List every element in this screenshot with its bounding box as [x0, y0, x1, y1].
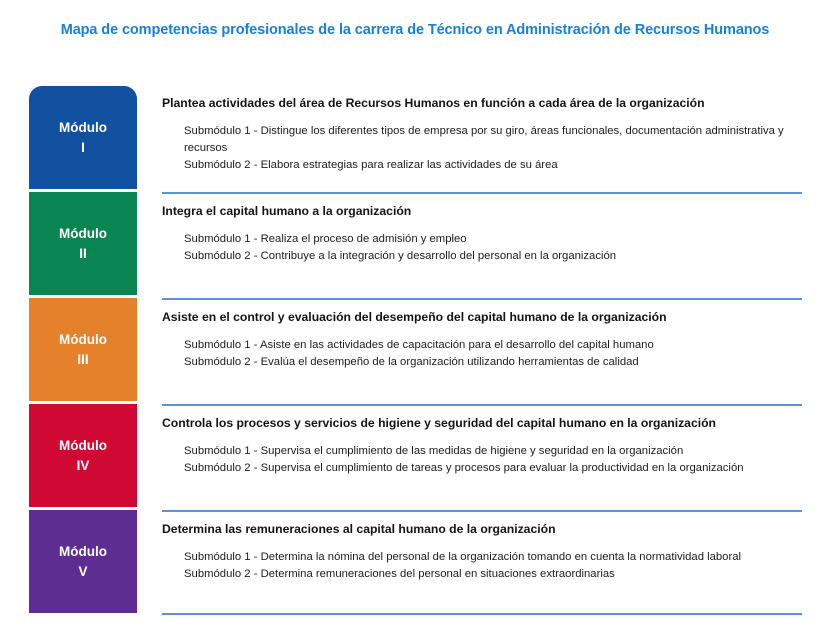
- module-chip-label: Módulo: [59, 436, 107, 456]
- module-chip-iv[interactable]: MóduloIV: [29, 404, 137, 507]
- submodule-list: Submódulo 1 - Asiste en las actividades …: [162, 337, 802, 371]
- module-content: Asiste en el control y evaluación del de…: [148, 298, 830, 401]
- module-row[interactable]: MóduloIIIAsiste en el control y evaluaci…: [0, 298, 830, 401]
- module-chip-cell: MóduloI: [0, 86, 148, 189]
- bottom-rule-row: [0, 613, 830, 615]
- competency-title: Asiste en el control y evaluación del de…: [162, 310, 802, 326]
- submodule-list: Submódulo 1 - Supervisa el cumplimiento …: [162, 443, 802, 477]
- competency-title: Integra el capital humano a la organizac…: [162, 204, 802, 220]
- submodule-item: Submódulo 2 - Elabora estrategias para r…: [184, 157, 802, 174]
- module-chip-label: Módulo: [59, 118, 107, 138]
- module-row[interactable]: MóduloIIIntegra el capital humano a la o…: [0, 192, 830, 295]
- module-chip-cell: MóduloV: [0, 510, 148, 613]
- submodule-item: Submódulo 1 - Supervisa el cumplimiento …: [184, 443, 802, 460]
- module-chip-i[interactable]: MóduloI: [29, 86, 137, 189]
- module-chip-v[interactable]: MóduloV: [29, 510, 137, 613]
- submodule-list: Submódulo 1 - Realiza el proceso de admi…: [162, 231, 802, 265]
- competency-title: Plantea actividades del área de Recursos…: [162, 96, 802, 112]
- competency-map: MóduloIPlantea actividades del área de R…: [0, 86, 830, 615]
- submodule-item: Submódulo 2 - Evalúa el desempeño de la …: [184, 354, 802, 371]
- module-chip-label: Módulo: [59, 330, 107, 350]
- module-chip-iii[interactable]: MóduloIII: [29, 298, 137, 401]
- submodule-item: Submódulo 1 - Realiza el proceso de admi…: [184, 231, 802, 248]
- module-chip-label: Módulo: [59, 542, 107, 562]
- module-chip-numeral: V: [78, 562, 87, 582]
- competency-title: Determina las remuneraciones al capital …: [162, 522, 802, 538]
- module-chip-cell: MóduloIV: [0, 404, 148, 507]
- module-content-inner: Asiste en el control y evaluación del de…: [148, 300, 802, 383]
- submodule-item: Submódulo 2 - Supervisa el cumplimiento …: [184, 460, 802, 477]
- page-title: Mapa de competencias profesionales de la…: [0, 22, 830, 38]
- submodule-list: Submódulo 1 - Distingue los diferentes t…: [162, 123, 802, 174]
- module-chip-numeral: III: [77, 350, 88, 370]
- module-content: Controla los procesos y servicios de hig…: [148, 404, 830, 507]
- module-content-inner: Integra el capital humano a la organizac…: [148, 194, 802, 277]
- submodule-list: Submódulo 1 - Determina la nómina del pe…: [162, 549, 802, 583]
- module-chip-ii[interactable]: MóduloII: [29, 192, 137, 295]
- module-chip-label: Módulo: [59, 224, 107, 244]
- competency-title: Controla los procesos y servicios de hig…: [162, 416, 802, 432]
- module-chip-cell: MóduloII: [0, 192, 148, 295]
- submodule-item: Submódulo 1 - Asiste en las actividades …: [184, 337, 802, 354]
- submodule-item: Submódulo 1 - Distingue los diferentes t…: [184, 123, 802, 157]
- bottom-rule-spacer: [0, 613, 148, 615]
- module-row[interactable]: MóduloVDetermina las remuneraciones al c…: [0, 510, 830, 613]
- module-content-inner: Plantea actividades del área de Recursos…: [148, 86, 802, 186]
- module-content-inner: Determina las remuneraciones al capital …: [148, 512, 802, 595]
- module-chip-numeral: II: [79, 244, 87, 264]
- module-content: Determina las remuneraciones al capital …: [148, 510, 830, 613]
- module-content: Integra el capital humano a la organizac…: [148, 192, 830, 295]
- submodule-item: Submódulo 2 - Determina remuneraciones d…: [184, 566, 802, 583]
- module-row[interactable]: MóduloIPlantea actividades del área de R…: [0, 86, 830, 189]
- module-content-inner: Controla los procesos y servicios de hig…: [148, 406, 802, 489]
- module-row[interactable]: MóduloIVControla los procesos y servicio…: [0, 404, 830, 507]
- bottom-rule: [162, 613, 802, 615]
- submodule-item: Submódulo 2 - Contribuye a la integració…: [184, 248, 802, 265]
- submodule-item: Submódulo 1 - Determina la nómina del pe…: [184, 549, 802, 566]
- module-chip-numeral: I: [81, 138, 85, 158]
- module-content: Plantea actividades del área de Recursos…: [148, 86, 830, 189]
- module-chip-numeral: IV: [77, 456, 90, 476]
- module-chip-cell: MóduloIII: [0, 298, 148, 401]
